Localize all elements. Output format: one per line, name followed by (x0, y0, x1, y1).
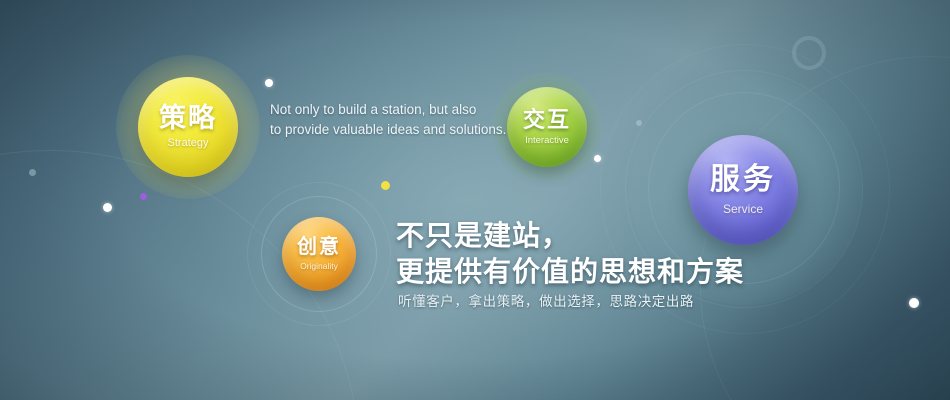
english-tagline-line2: to provide valuable ideas and solutions. (270, 120, 510, 140)
sphere-strategy-en-label: Strategy (168, 138, 209, 149)
dot-white-left (103, 203, 112, 212)
english-tagline-line1: Not only to build a station, but also (270, 100, 510, 120)
sphere-originality-en-label: Originality (300, 262, 338, 271)
dot-faint-service (636, 120, 642, 126)
headline: 不只是建站， 更提供有价值的思想和方案 (396, 218, 744, 290)
sphere-interactive-cn-label: 交互 (523, 109, 571, 131)
sphere-strategy[interactable]: 策略 Strategy (138, 77, 238, 177)
english-tagline: Not only to build a station, but also to… (270, 100, 510, 139)
dot-white-right (909, 298, 919, 308)
sphere-interactive[interactable]: 交互 Interactive (507, 87, 587, 167)
headline-line1: 不只是建站， (396, 218, 744, 254)
sphere-originality[interactable]: 创意 Originality (282, 217, 356, 291)
sphere-interactive-en-label: Interactive (525, 136, 569, 146)
dot-yellow-center (381, 181, 390, 190)
background-vignette (0, 0, 950, 400)
dot-white-green (594, 155, 601, 162)
dot-purple-left (140, 193, 147, 200)
sphere-originality-cn-label: 创意 (297, 237, 341, 257)
headline-line2: 更提供有价值的思想和方案 (396, 254, 744, 290)
subheadline: 听懂客户，拿出策略，做出选择，思路决定出路 (398, 290, 694, 310)
dot-white-upper (265, 79, 273, 87)
hero-banner: 策略 Strategy 交互 Interactive 服务 Service 创意… (0, 0, 950, 400)
sphere-service-en-label: Service (723, 203, 763, 215)
dot-gray-left (29, 169, 36, 176)
sphere-service-cn-label: 服务 (710, 165, 776, 195)
sphere-strategy-cn-label: 策略 (159, 105, 217, 132)
